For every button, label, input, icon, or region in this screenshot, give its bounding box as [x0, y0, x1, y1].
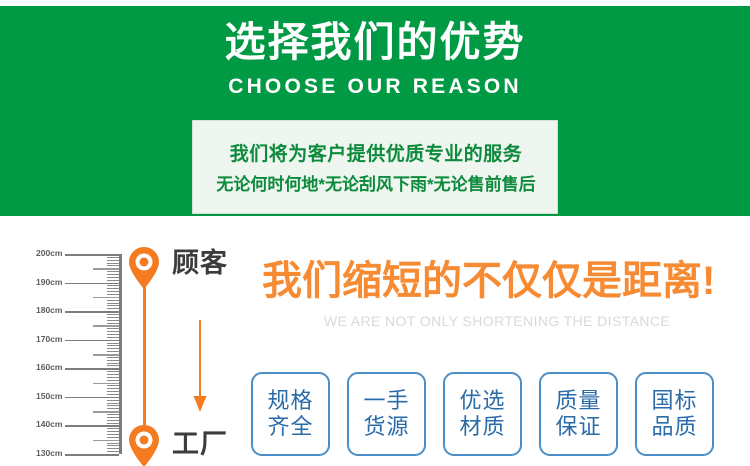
ruler-tick-minor: [107, 288, 119, 289]
ruler-tick-major: [65, 283, 119, 285]
pin-label-customer: 顾客: [172, 247, 228, 279]
ruler-tick-minor: [107, 431, 119, 432]
ruler-tick-minor: [107, 408, 119, 409]
ruler-tick-minor: [107, 374, 119, 375]
ruler-tick-minor: [107, 385, 119, 386]
map-pin-icon-customer: [127, 246, 161, 290]
ruler-tick-minor: [107, 403, 119, 404]
feature-badge-line-1: 规格: [267, 388, 313, 414]
ruler-tick-major: [65, 368, 119, 370]
down-arrow-icon: [193, 320, 207, 412]
feature-badge-line-2: 货源: [363, 414, 409, 440]
ruler-tick-minor: [107, 428, 119, 429]
ruler-tick-minor: [107, 308, 119, 309]
ruler-tick-major: [65, 340, 119, 342]
feature-badge[interactable]: 规格齐全: [251, 372, 330, 456]
ruler-tick-minor: [107, 294, 119, 295]
height-ruler: 200cm190cm180cm170cm160cm150cm140cm130cm: [36, 250, 122, 458]
feature-badge[interactable]: 质量保证: [539, 372, 618, 456]
ruler-tick-minor: [107, 394, 119, 395]
feature-badge-line-1: 质量: [555, 388, 601, 414]
map-pin-icon-factory: [127, 424, 161, 466]
ruler-tick-minor: [107, 317, 119, 318]
ruler-tick-minor: [107, 423, 119, 424]
ruler-tick-minor: [107, 277, 119, 278]
ruler-tick-minor: [107, 314, 119, 315]
ruler-tick-minor: [107, 377, 119, 378]
page-title: 选择我们的优势: [0, 18, 750, 66]
ruler-tick-minor: [107, 357, 119, 358]
feature-badge-line-2: 保证: [555, 414, 601, 440]
service-promise-line-2: 无论何时何地*无论刮风下雨*无论售前售后: [193, 174, 559, 196]
feature-badge-line-1: 一手: [363, 388, 409, 414]
promo-banner: 选择我们的优势 CHOOSE OUR REASON 我们将为客户提供优质专业的服…: [0, 0, 750, 466]
ruler-tick-minor: [107, 260, 119, 261]
ruler-tick-minor: [107, 320, 119, 321]
feature-badge[interactable]: 优选材质: [443, 372, 522, 456]
ruler-tick-minor: [107, 323, 119, 324]
ruler-tick-minor: [107, 257, 119, 258]
ruler-tick-minor: [107, 345, 119, 346]
ruler-tick-minor: [107, 417, 119, 418]
ruler-tick-minor: [107, 280, 119, 281]
ruler-tick-minor: [107, 448, 119, 449]
ruler-tick-minor: [107, 291, 119, 292]
ruler-tick-major: [65, 425, 119, 427]
ruler-tick-mid: [93, 440, 119, 442]
pin-connector-line: [143, 286, 146, 436]
ruler-tick-minor: [107, 434, 119, 435]
ruler-tick-minor: [107, 351, 119, 352]
ruler-tick-major: [65, 311, 119, 313]
feature-badge-line-1: 国标: [651, 388, 697, 414]
ruler-tick-minor: [107, 271, 119, 272]
ruler-tick-minor: [107, 391, 119, 392]
headline-en: WE ARE NOT ONLY SHORTENING THE DISTANCE: [262, 312, 732, 330]
ruler-tick-mid: [93, 297, 119, 299]
ruler-tick-minor: [107, 343, 119, 344]
ruler-tick-minor: [107, 300, 119, 301]
feature-badge-line-2: 品质: [651, 414, 697, 440]
feature-badge[interactable]: 国标品质: [635, 372, 714, 456]
feature-badge[interactable]: 一手货源: [347, 372, 426, 456]
ruler-tick-minor: [107, 337, 119, 338]
ruler-tick-minor: [107, 414, 119, 415]
ruler-tick-minor: [107, 348, 119, 349]
feature-badge-line-2: 齐全: [267, 414, 313, 440]
ruler-tick-minor: [107, 445, 119, 446]
feature-badge-line-1: 优选: [459, 388, 505, 414]
ruler-tick-minor: [107, 263, 119, 264]
ruler-tick-minor: [107, 303, 119, 304]
ruler-tick-minor: [107, 420, 119, 421]
ruler-tick-minor: [107, 285, 119, 286]
pin-label-factory: 工厂: [172, 428, 228, 460]
ruler-tick-mid: [93, 325, 119, 327]
ruler-tick-mid: [93, 411, 119, 413]
feature-badge-list: 规格齐全一手货源优选材质质量保证国标品质: [251, 372, 733, 456]
ruler-tick-minor: [107, 365, 119, 366]
ruler-tick-mid: [93, 268, 119, 270]
ruler-tick-minor: [107, 437, 119, 438]
ruler-tick-mid: [93, 354, 119, 356]
ruler-tick-minor: [107, 274, 119, 275]
header-green-band: 选择我们的优势 CHOOSE OUR REASON 我们将为客户提供优质专业的服…: [0, 6, 750, 216]
service-promise-panel: 我们将为客户提供优质专业的服务 无论何时何地*无论刮风下雨*无论售前售后: [192, 120, 558, 214]
ruler-tick-minor: [107, 331, 119, 332]
service-promise-line-1: 我们将为客户提供优质专业的服务: [193, 143, 559, 167]
ruler-tick-minor: [107, 451, 119, 452]
ruler-tick-minor: [107, 328, 119, 329]
ruler-tick-minor: [107, 443, 119, 444]
ruler-tick-minor: [107, 371, 119, 372]
ruler-tick-minor: [107, 360, 119, 361]
feature-badge-line-2: 材质: [459, 414, 505, 440]
ruler-tick-mid: [93, 383, 119, 385]
ruler-tick-minor: [107, 388, 119, 389]
ruler-tick-minor: [107, 334, 119, 335]
ruler-tick-major: [65, 454, 119, 456]
page-subtitle-en: CHOOSE OUR REASON: [0, 74, 750, 100]
ruler-tick-major: [65, 254, 119, 256]
ruler-tick-minor: [107, 305, 119, 306]
headline-cn: 我们缩短的不仅仅是距离!: [262, 258, 732, 304]
ruler-tick-minor: [107, 400, 119, 401]
ruler-tick-minor: [107, 405, 119, 406]
ruler-tick-minor: [107, 380, 119, 381]
ruler-tick-minor: [107, 363, 119, 364]
ruler-tick-minor: [107, 265, 119, 266]
ruler-tick-major: [65, 397, 119, 399]
